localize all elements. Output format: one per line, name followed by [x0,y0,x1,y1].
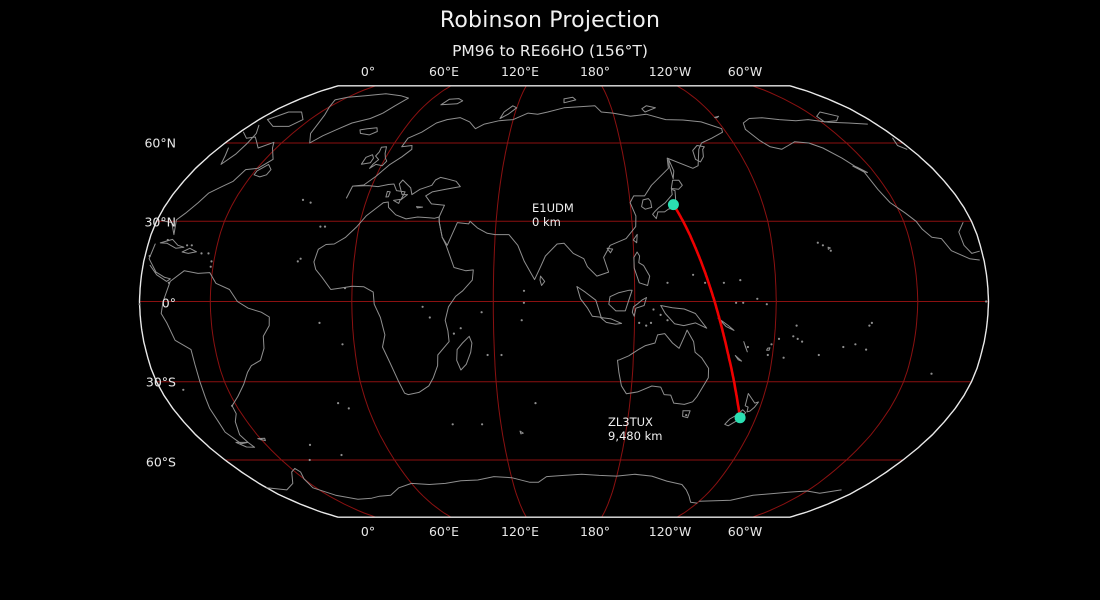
island-speck-51 [210,266,212,268]
island-speck-20 [778,338,780,340]
coastline-newcaledonia [735,356,741,362]
island-speck-24 [487,354,489,356]
island-speck-62 [191,244,193,246]
coastline-baffin [267,112,303,126]
island-speck-13 [735,302,737,304]
coastline-hispaniola [182,248,196,253]
coastline-newfoundland [254,164,271,177]
island-speck-27 [460,327,462,329]
island-speck-71 [344,287,346,289]
island-speck-11 [692,274,694,276]
map-figure: Robinson Projection PM96 to RE66HO (156°… [0,0,1100,600]
island-speck-29 [302,199,304,201]
island-speck-0 [842,346,844,348]
island-speck-34 [300,258,302,260]
island-speck-1 [865,349,867,351]
island-speck-15 [822,244,824,246]
coastline-namerica [161,132,274,234]
lon-label-top-2: 120°E [501,64,539,79]
coastline-vancouver [853,166,868,172]
coastline-taiwan [633,234,637,242]
island-speck-49 [337,402,339,404]
island-speck-8 [739,279,741,281]
island-speck-32 [324,226,326,228]
coastline-namerica [221,125,259,164]
island-speck-68 [796,325,798,327]
island-speck-52 [207,252,209,254]
island-speck-31 [319,226,321,228]
island-speck-55 [167,239,169,241]
island-speck-41 [348,407,350,409]
island-speck-60 [666,319,668,321]
lon-label-bottom-5: 60°W [728,524,763,539]
coastline-svalbard [441,99,463,105]
coastline-cuba [160,239,184,248]
island-speck-58 [652,308,654,310]
island-speck-33 [297,260,299,262]
island-speck-4 [792,335,794,337]
coastline-hokkaido [671,180,682,189]
island-speck-30 [310,202,312,204]
island-speck-43 [481,423,483,425]
island-speck-23 [481,311,483,313]
lon-label-top-0: 0° [361,64,375,79]
island-speck-64 [149,255,151,257]
station-distance-destination: 9,480 km [608,430,662,444]
island-speck-3 [818,354,820,356]
coastline-namerica [959,223,980,254]
island-speck-70 [429,316,431,318]
island-speck-40 [309,459,311,461]
island-speck-53 [200,252,202,254]
coastline-wrangel [715,116,719,118]
coastline-hainan [607,248,613,253]
island-speck-7 [723,282,725,284]
coastline-hawaii [828,247,830,249]
lon-label-top-4: 120°W [649,64,691,79]
lon-label-bottom-3: 180° [580,524,610,539]
island-speck-38 [309,444,311,446]
lat-label-60s: 60°S [118,455,176,470]
station-callsign-origin: E1UDM [532,202,574,216]
coastline-africa [314,202,473,395]
island-speck-25 [500,354,502,356]
island-speck-21 [523,302,525,304]
island-speck-69 [422,306,424,308]
island-speck-75 [985,300,987,302]
island-speck-19 [770,343,772,345]
coastline-philippines [634,252,650,286]
coastline-fiji [767,348,770,350]
lat-label-60n: 60°N [118,136,176,151]
coastline-greatbritain [370,147,387,169]
coastline-eurasia [347,106,723,280]
island-speck-63 [186,244,188,246]
island-speck-57 [645,325,647,327]
coastline-madagascar [457,336,472,370]
island-speck-36 [318,322,320,324]
lon-label-bottom-4: 120°W [649,524,691,539]
station-distance-origin: 0 km [532,216,574,230]
station-callsign-destination: ZL3TUX [608,416,662,430]
coastline-sardinia [386,191,390,197]
coastline-korea [642,199,652,210]
island-speck-12 [666,282,668,284]
coastline-newguinea [661,306,707,329]
coastline-greenland [310,94,409,143]
coastline-java [601,318,622,325]
station-marker-destination [735,412,746,423]
island-speck-37 [260,438,262,440]
island-speck-72 [231,405,233,407]
coastline-srilanka [540,276,545,285]
coastline-iceland [360,128,377,135]
coastline-antarctica [699,490,841,501]
island-speck-61 [650,322,652,324]
island-speck-48 [871,322,873,324]
island-speck-67 [767,354,769,356]
lon-label-top-3: 180° [580,64,610,79]
coastline-ireland [361,155,373,165]
island-speck-44 [534,402,536,404]
lat-label-0: 0° [108,296,176,311]
coastline-namerica [743,118,867,130]
lon-label-top-1: 60°E [429,64,459,79]
coastline-borneo [609,290,632,311]
island-speck-2 [854,343,856,345]
coastline-sicily [394,199,401,203]
island-speck-14 [766,303,768,305]
lon-label-bottom-1: 60°E [429,524,459,539]
station-label-origin: E1UDM 0 km [532,202,574,229]
coastline-australia [618,330,709,404]
island-speck-65 [742,302,744,304]
lon-label-bottom-2: 120°E [501,524,539,539]
coastline-crete [417,207,423,208]
island-speck-59 [660,314,662,316]
lon-label-top-5: 60°W [728,64,763,79]
island-speck-45 [182,389,184,391]
lon-label-bottom-0: 0° [361,524,375,539]
great-circle-path-0 [673,205,740,418]
island-speck-56 [638,322,640,324]
coastline-namerica [745,129,979,260]
island-speck-35 [341,343,343,345]
island-speck-18 [797,338,799,340]
island-speck-39 [340,454,342,456]
island-speck-42 [452,423,454,425]
island-speck-22 [523,290,525,292]
island-speck-50 [210,260,212,262]
station-marker-origin [668,199,679,210]
coastline-nz_north [745,394,758,412]
coastline-antarctica [267,468,697,503]
island-speck-73 [685,414,687,416]
lat-label-30n: 30°N [108,215,176,230]
island-speck-10 [704,282,706,284]
island-speck-17 [830,250,832,252]
island-speck-9 [756,298,758,300]
island-speck-46 [930,373,932,375]
coastline-namerica [149,244,170,281]
island-speck-5 [783,357,785,359]
coastline-samerica [161,271,269,444]
station-label-destination: ZL3TUX 9,480 km [608,416,662,443]
island-speck-47 [868,325,870,327]
coastline-newsiberian [642,106,656,112]
coastline-severnaya [564,97,576,103]
lat-label-30s: 30°S [108,375,176,390]
island-speck-28 [453,333,455,335]
coastline-sakhalin [669,159,674,178]
coastline-kerguelen [520,431,523,434]
coastline-vanuatu [744,342,748,352]
island-speck-16 [817,242,819,244]
island-speck-54 [168,282,170,284]
island-speck-26 [521,319,523,321]
island-speck-66 [747,346,749,348]
island-speck-6 [801,341,803,343]
